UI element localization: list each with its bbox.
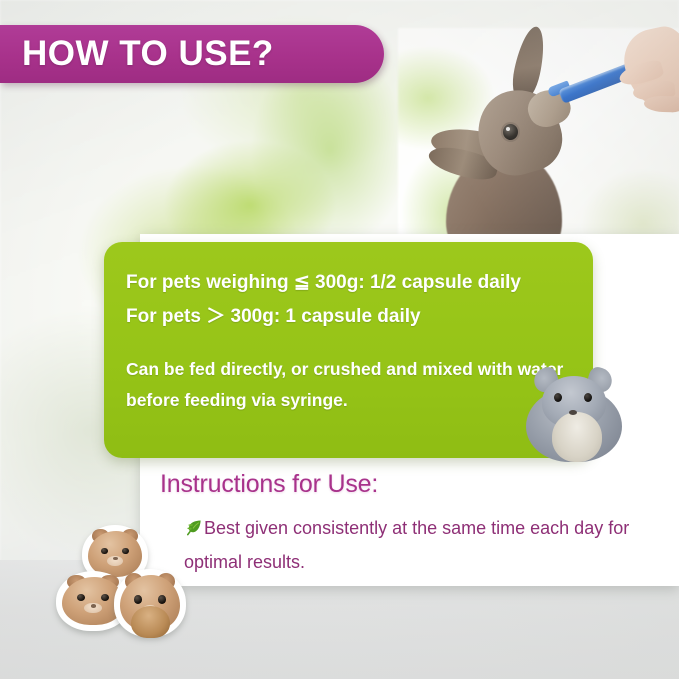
- chinchilla-eye-right: [584, 393, 592, 402]
- header-pill-banner: HOW TO USE?: [0, 25, 384, 83]
- chinchilla-nose: [569, 410, 577, 415]
- hamster-seed-eye-left: [134, 595, 142, 603]
- seed-held-by-hamster: [131, 606, 171, 637]
- dosage-note-line-1: Can be fed directly, or crushed and mixe…: [126, 354, 567, 385]
- hamster-image-with-seed: [120, 575, 180, 631]
- page-title: HOW TO USE?: [22, 34, 274, 74]
- hamster-left-nose: [91, 604, 97, 607]
- dosage-line-small-pets: For pets weighing ≦ 300g: 1/2 capsule da…: [126, 266, 567, 300]
- dosage-line-large-pets: For pets ＞ 300g: 1 capsule daily: [126, 300, 567, 334]
- dosage-note-line-2: before feeding via syringe.: [126, 385, 567, 416]
- hamster-image-top: [88, 531, 142, 577]
- instructions-body: Best given consistently at the same time…: [184, 513, 654, 578]
- instructions-body-text: Best given consistently at the same time…: [184, 518, 629, 572]
- infographic-panel: HOW TO USE? For pets weighing ≦ 300g: 1/…: [0, 0, 679, 679]
- chinchilla-image: [522, 360, 626, 464]
- instructions-heading: Instructions for Use:: [160, 470, 670, 499]
- dosage-note: Can be fed directly, or crushed and mixe…: [126, 354, 567, 416]
- hamster-top-body: [88, 531, 142, 577]
- chinchilla-belly: [552, 412, 602, 462]
- instructions-text-block: Instructions for Use: Best given consist…: [160, 470, 670, 578]
- rabbit-syringe-photo: [398, 28, 679, 260]
- hamster-seed-eye-right: [158, 595, 166, 603]
- leaf-icon: [184, 516, 203, 547]
- chinchilla-eye-left: [554, 393, 562, 402]
- rabbit-eye: [503, 124, 518, 140]
- dosage-box: For pets weighing ≦ 300g: 1/2 capsule da…: [104, 242, 593, 458]
